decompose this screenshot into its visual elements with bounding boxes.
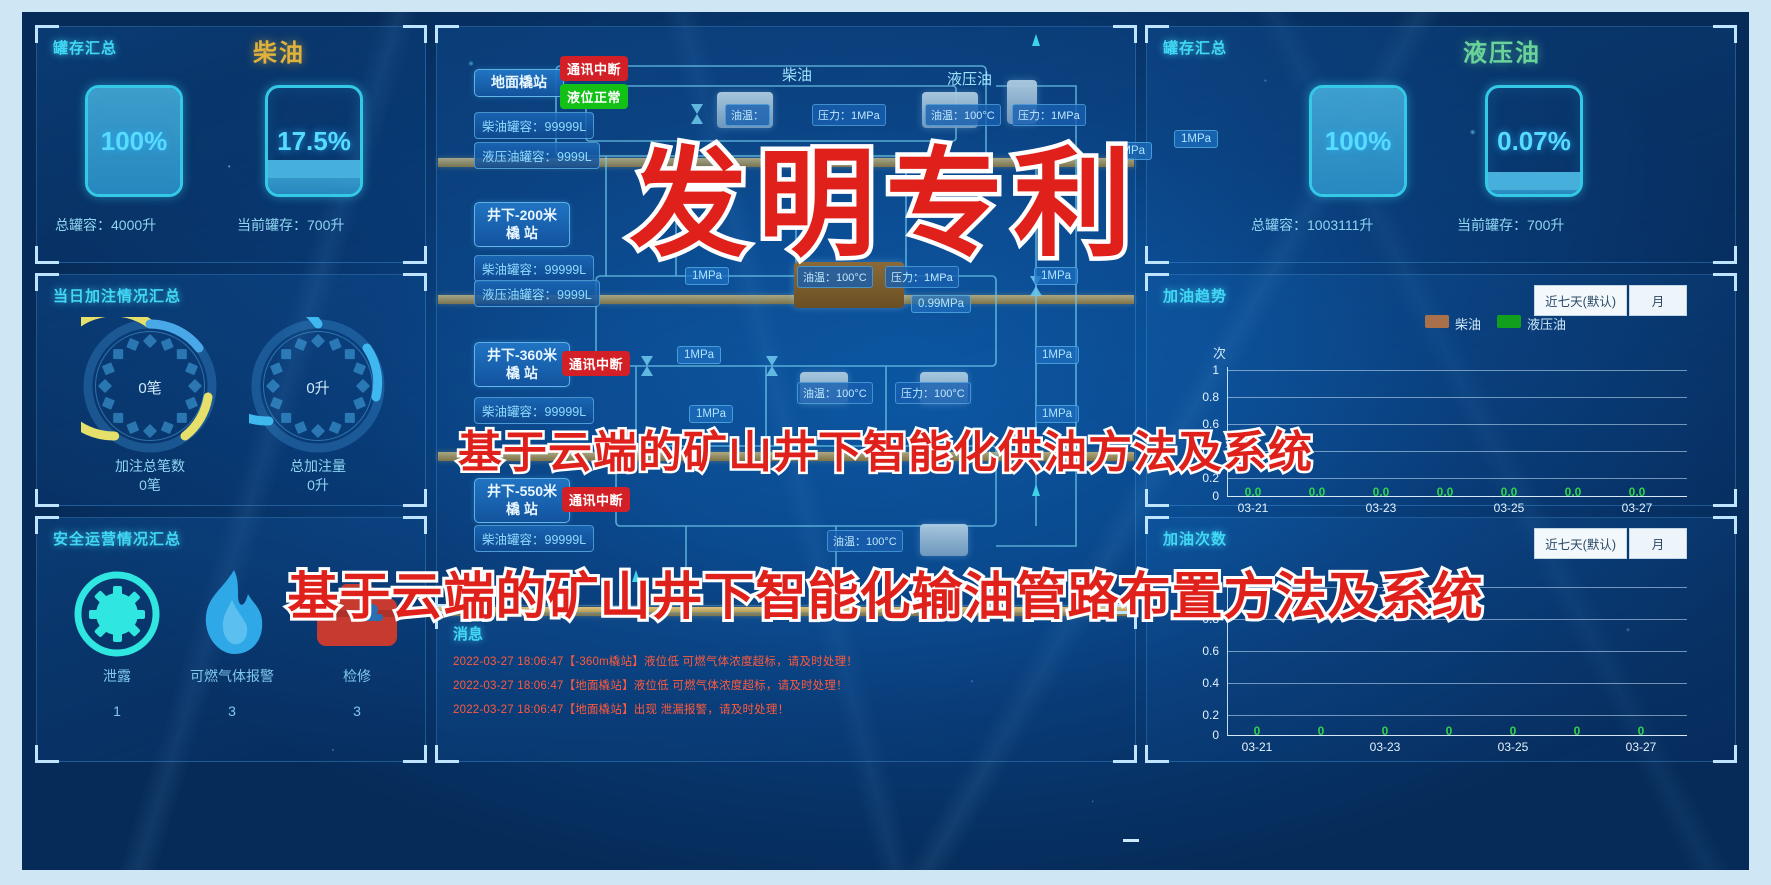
station-3-capacity-0: 柴油罐容：99999L	[474, 525, 594, 552]
trend-point-label-0: 0.0	[1239, 485, 1267, 499]
message-row-1: 2022-03-27 18:06:47【地面橇站】液位低 可燃气体浓度超标，请及…	[453, 677, 848, 693]
right-current-tank-fill	[1488, 181, 1580, 194]
trend-y-unit: 次	[1213, 343, 1226, 362]
gauge-refuel-count-label-line2: 0笔	[139, 477, 161, 493]
station-2-name[interactable]: 井下-360米 橇 站	[474, 342, 570, 387]
pressure-tag-2: 1MPa	[685, 267, 729, 285]
corner-decor	[401, 487, 427, 507]
gauge-refuel-count: 0笔	[81, 317, 219, 455]
screenshot-root: 罐存汇总 柴油 100% 总罐容：4000升 17.5% 当前罐存：700升 当…	[0, 0, 1771, 885]
trend-xtick-3: 03-27	[1613, 501, 1661, 515]
minimize-button[interactable]	[1123, 839, 1139, 842]
pipeline-tank-lower	[920, 524, 968, 556]
legend-label-hydraulic: 液压油	[1527, 314, 1566, 333]
corner-decor	[401, 516, 427, 536]
panel-title-refuel-trend: 加油趋势	[1163, 285, 1227, 306]
count-range-button-week[interactable]: 近七天(默认)	[1534, 528, 1627, 559]
count-xtick-1: 03-23	[1361, 740, 1409, 754]
corner-decor	[1145, 244, 1171, 264]
trend-point-label-2: 0.0	[1367, 485, 1395, 499]
corner-decor	[1111, 611, 1137, 631]
leak-gear-icon	[73, 570, 161, 663]
right-oil-type-label: 液压油	[1463, 33, 1541, 68]
sensor-tag-pressure-1: 压力：1MPa	[812, 104, 886, 126]
trend-point-label-5: 0.0	[1559, 485, 1587, 499]
count-ytick-4: 0.2	[1185, 708, 1219, 722]
count-point-label-3: 0	[1435, 724, 1463, 738]
right-current-tank-caption: 当前罐存：700升	[1457, 215, 1564, 235]
left-current-tank: 17.5%	[265, 85, 363, 197]
panel-title-left-storage: 罐存汇总	[53, 37, 117, 58]
count-ytick-5: 0	[1185, 728, 1219, 742]
count-point-label-2: 0	[1371, 724, 1399, 738]
pressure-tag-0: 1MPa	[1108, 142, 1152, 160]
count-ytick-1: 0.8	[1185, 612, 1219, 626]
station-3-badge-0: 通讯中断	[562, 487, 630, 512]
sensor-tag-oiltemp-3: 油温：100°C	[797, 266, 873, 288]
trend-y-axis	[1227, 367, 1228, 497]
corner-decor	[35, 487, 61, 507]
station-1-name[interactable]: 井下-200米 橇 站	[474, 202, 570, 247]
pressure-tag-8: 0.99MPa	[911, 295, 971, 313]
sensor-tag-oiltemp-1: 油温：	[725, 104, 770, 126]
station-0-badge-1: 液位正常	[560, 84, 628, 109]
station-1-name-line2: 橇 站	[506, 225, 538, 241]
trend-xtick-0: 03-21	[1229, 501, 1277, 515]
gauge-refuel-count-label: 加注总笔数 0笔	[70, 457, 230, 495]
corner-decor	[1711, 743, 1737, 763]
trend-ytick-5: 0	[1185, 489, 1219, 503]
station-0-name[interactable]: 地面橇站	[474, 69, 564, 97]
panel-left-storage: 罐存汇总 柴油 100% 总罐容：4000升 17.5% 当前罐存：700升	[36, 26, 426, 263]
panel-title-refuel-count: 加油次数	[1163, 528, 1227, 549]
trend-point-label-1: 0.0	[1303, 485, 1331, 499]
right-total-tank-caption: 总罐容：1003111升	[1251, 215, 1373, 235]
safety-item-2-count: 3	[297, 703, 417, 719]
safety-item-1-label: 可燃气体报警	[172, 666, 292, 686]
gauge-refuel-volume-label-line1: 总加注量	[290, 458, 346, 474]
corner-decor	[401, 743, 427, 763]
corner-decor	[401, 244, 427, 264]
process-label-hydraulic: 液压油	[947, 68, 992, 89]
panel-messages: 消息 2022-03-27 18:06:47【-360m橇站】液位低 可燃气体浓…	[436, 612, 1136, 762]
panel-left-refuel: 当日加注情况汇总 0笔 加注总笔数 0笔	[36, 274, 426, 506]
count-ytick-3: 0.4	[1185, 676, 1219, 690]
corner-decor	[1145, 487, 1171, 507]
sensor-tag-pressure-3: 压力：1MPa	[885, 266, 959, 288]
dashboard: 罐存汇总 柴油 100% 总罐容：4000升 17.5% 当前罐存：700升 当…	[22, 12, 1749, 870]
count-point-label-5: 0	[1563, 724, 1591, 738]
corner-decor	[35, 244, 61, 264]
trend-ytick-1: 0.8	[1185, 390, 1219, 404]
station-3-name-line2: 橇 站	[506, 501, 538, 517]
gauge-refuel-volume: 0升	[249, 317, 387, 455]
trend-xtick-2: 03-25	[1485, 501, 1533, 515]
station-1-capacity-0: 柴油罐容：99999L	[474, 255, 594, 282]
corner-decor	[1711, 273, 1737, 293]
sensor-tag-pressure-2: 压力：1MPa	[1012, 104, 1086, 126]
station-0-capacity-1: 液压油罐容：9999L	[474, 142, 600, 169]
corner-decor	[435, 743, 461, 763]
count-point-label-1: 0	[1307, 724, 1335, 738]
trend-ytick-3: 0.4	[1185, 444, 1219, 458]
message-row-0: 2022-03-27 18:06:47【-360m橇站】液位低 可燃气体浓度超标…	[453, 653, 858, 669]
station-2-badge-0: 通讯中断	[562, 351, 630, 376]
count-point-label-0: 0	[1243, 724, 1271, 738]
count-xtick-2: 03-25	[1489, 740, 1537, 754]
safety-item-0-count: 1	[57, 703, 177, 719]
right-total-tank: 100%	[1309, 85, 1407, 197]
count-point-label-6: 0	[1627, 724, 1655, 738]
count-ytick-0: 1	[1185, 580, 1219, 594]
pressure-tag-4: 1MPa	[1035, 346, 1079, 364]
flame-icon	[192, 566, 272, 663]
sensor-tag-oiltemp-5: 油温：100°C	[827, 530, 903, 552]
right-current-tank: 0.07%	[1485, 85, 1583, 197]
left-current-tank-fill	[268, 169, 360, 194]
left-total-tank: 100%	[85, 85, 183, 197]
count-gridline-3	[1227, 683, 1687, 684]
trend-ytick-0: 1	[1185, 363, 1219, 377]
corner-decor	[1145, 743, 1171, 763]
trend-point-label-3: 0.0	[1431, 485, 1459, 499]
panel-title-left-refuel: 当日加注情况汇总	[53, 285, 181, 306]
trend-gridline-2	[1227, 424, 1687, 425]
panel-left-safety: 安全运营情况汇总	[36, 517, 426, 762]
safety-item-1-count: 3	[172, 703, 292, 719]
pressure-tag-5: 1MPa	[689, 405, 733, 423]
corner-decor	[1711, 244, 1737, 264]
process-label-diesel: 柴油	[782, 64, 812, 85]
safety-item-2-label: 检修	[297, 666, 417, 686]
message-row-2: 2022-03-27 18:06:47【地面橇站】出现 泄漏报警，请及时处理！	[453, 701, 789, 717]
panel-title-right-storage: 罐存汇总	[1163, 37, 1227, 58]
legend-label-diesel: 柴油	[1455, 314, 1481, 333]
count-range-button-month[interactable]: 月	[1629, 528, 1687, 559]
gauge-refuel-volume-value: 0升	[249, 377, 387, 398]
count-gridline-0	[1227, 587, 1687, 588]
count-ytick-2: 0.6	[1185, 644, 1219, 658]
panel-title-left-safety: 安全运营情况汇总	[53, 528, 181, 549]
trend-ytick-4: 0.2	[1185, 471, 1219, 485]
station-3-name-line1: 井下-550米	[487, 483, 557, 499]
panel-right-storage: 罐存汇总 液压油 100% 总罐容：1003111升 0.07% 当前罐存：70…	[1146, 26, 1736, 263]
toolbox-icon	[315, 580, 399, 655]
corner-decor	[1711, 516, 1737, 536]
station-1-capacity-1: 液压油罐容：9999L	[474, 280, 600, 307]
trend-gridline-1	[1227, 397, 1687, 398]
left-current-tank-percent: 17.5%	[268, 126, 360, 157]
trend-gridline-0	[1227, 370, 1687, 371]
left-current-tank-caption: 当前罐存：700升	[237, 215, 344, 235]
station-2-name-line2: 橇 站	[506, 365, 538, 381]
trend-range-button-week[interactable]: 近七天(默认)	[1534, 285, 1627, 316]
panel-refuel-count: 加油次数 近七天(默认) 月 1 0.8 0.6 0.4 0.2 0 0 0 0…	[1146, 517, 1736, 762]
gauge-refuel-volume-label: 总加注量 0升	[238, 457, 398, 495]
corner-decor	[401, 25, 427, 45]
pressure-tag-1: 1MPa	[1034, 267, 1078, 285]
left-total-tank-percent: 100%	[88, 126, 180, 157]
count-gridline-4	[1227, 715, 1687, 716]
corner-decor	[1711, 487, 1737, 507]
pressure-tag-7: 1MPa	[1174, 130, 1218, 148]
station-2-capacity-0: 柴油罐容：99999L	[474, 397, 594, 424]
right-current-tank-percent: 0.07%	[1488, 126, 1580, 157]
left-total-tank-caption: 总罐容：4000升	[55, 215, 156, 235]
left-oil-type-label: 柴油	[253, 33, 305, 68]
sensor-tag-pressure-4: 压力：100°C	[895, 382, 971, 404]
trend-ytick-2: 0.6	[1185, 417, 1219, 431]
station-0-capacity-0: 柴油罐容：99999L	[474, 112, 594, 139]
count-xtick-0: 03-21	[1233, 740, 1281, 754]
panel-title-messages: 消息	[453, 623, 483, 644]
gauge-refuel-count-label-line1: 加注总笔数	[115, 458, 185, 474]
trend-point-label-4: 0.0	[1495, 485, 1523, 499]
corner-decor	[1111, 743, 1137, 763]
station-2-name-line1: 井下-360米	[487, 347, 557, 363]
count-gridline-1	[1227, 619, 1687, 620]
pressure-tag-3: 1MPa	[677, 346, 721, 364]
trend-gridline-4	[1227, 478, 1687, 479]
station-1-name-line1: 井下-200米	[487, 207, 557, 223]
trend-point-label-6: 0.0	[1623, 485, 1651, 499]
sensor-tag-oiltemp-2: 油温：100°C	[925, 104, 1001, 126]
count-point-label-4: 0	[1499, 724, 1527, 738]
corner-decor	[1711, 25, 1737, 45]
count-xtick-3: 03-27	[1617, 740, 1665, 754]
trend-range-button-month[interactable]: 月	[1629, 285, 1687, 316]
pressure-tag-6: 1MPa	[1035, 405, 1079, 423]
gauge-refuel-volume-label-line2: 0升	[307, 477, 329, 493]
count-y-axis	[1227, 584, 1228, 735]
panel-refuel-trend: 加油趋势 近七天(默认) 月 柴油 液压油 次 1 0.8 0.6 0.4 0.…	[1146, 274, 1736, 506]
sensor-tag-oiltemp-4: 油温：100°C	[797, 382, 873, 404]
gauge-refuel-count-value: 0笔	[81, 377, 219, 398]
legend-swatch-diesel[interactable]	[1425, 315, 1449, 328]
corner-decor	[401, 273, 427, 293]
station-3-name[interactable]: 井下-550米 橇 站	[474, 478, 570, 523]
safety-item-0-label: 泄露	[57, 666, 177, 686]
trend-gridline-3	[1227, 451, 1687, 452]
trend-xtick-1: 03-23	[1357, 501, 1405, 515]
count-gridline-2	[1227, 651, 1687, 652]
legend-swatch-hydraulic[interactable]	[1497, 315, 1521, 328]
right-total-tank-percent: 100%	[1312, 126, 1404, 157]
station-0-badge-0: 通讯中断	[560, 56, 628, 81]
corner-decor	[35, 743, 61, 763]
